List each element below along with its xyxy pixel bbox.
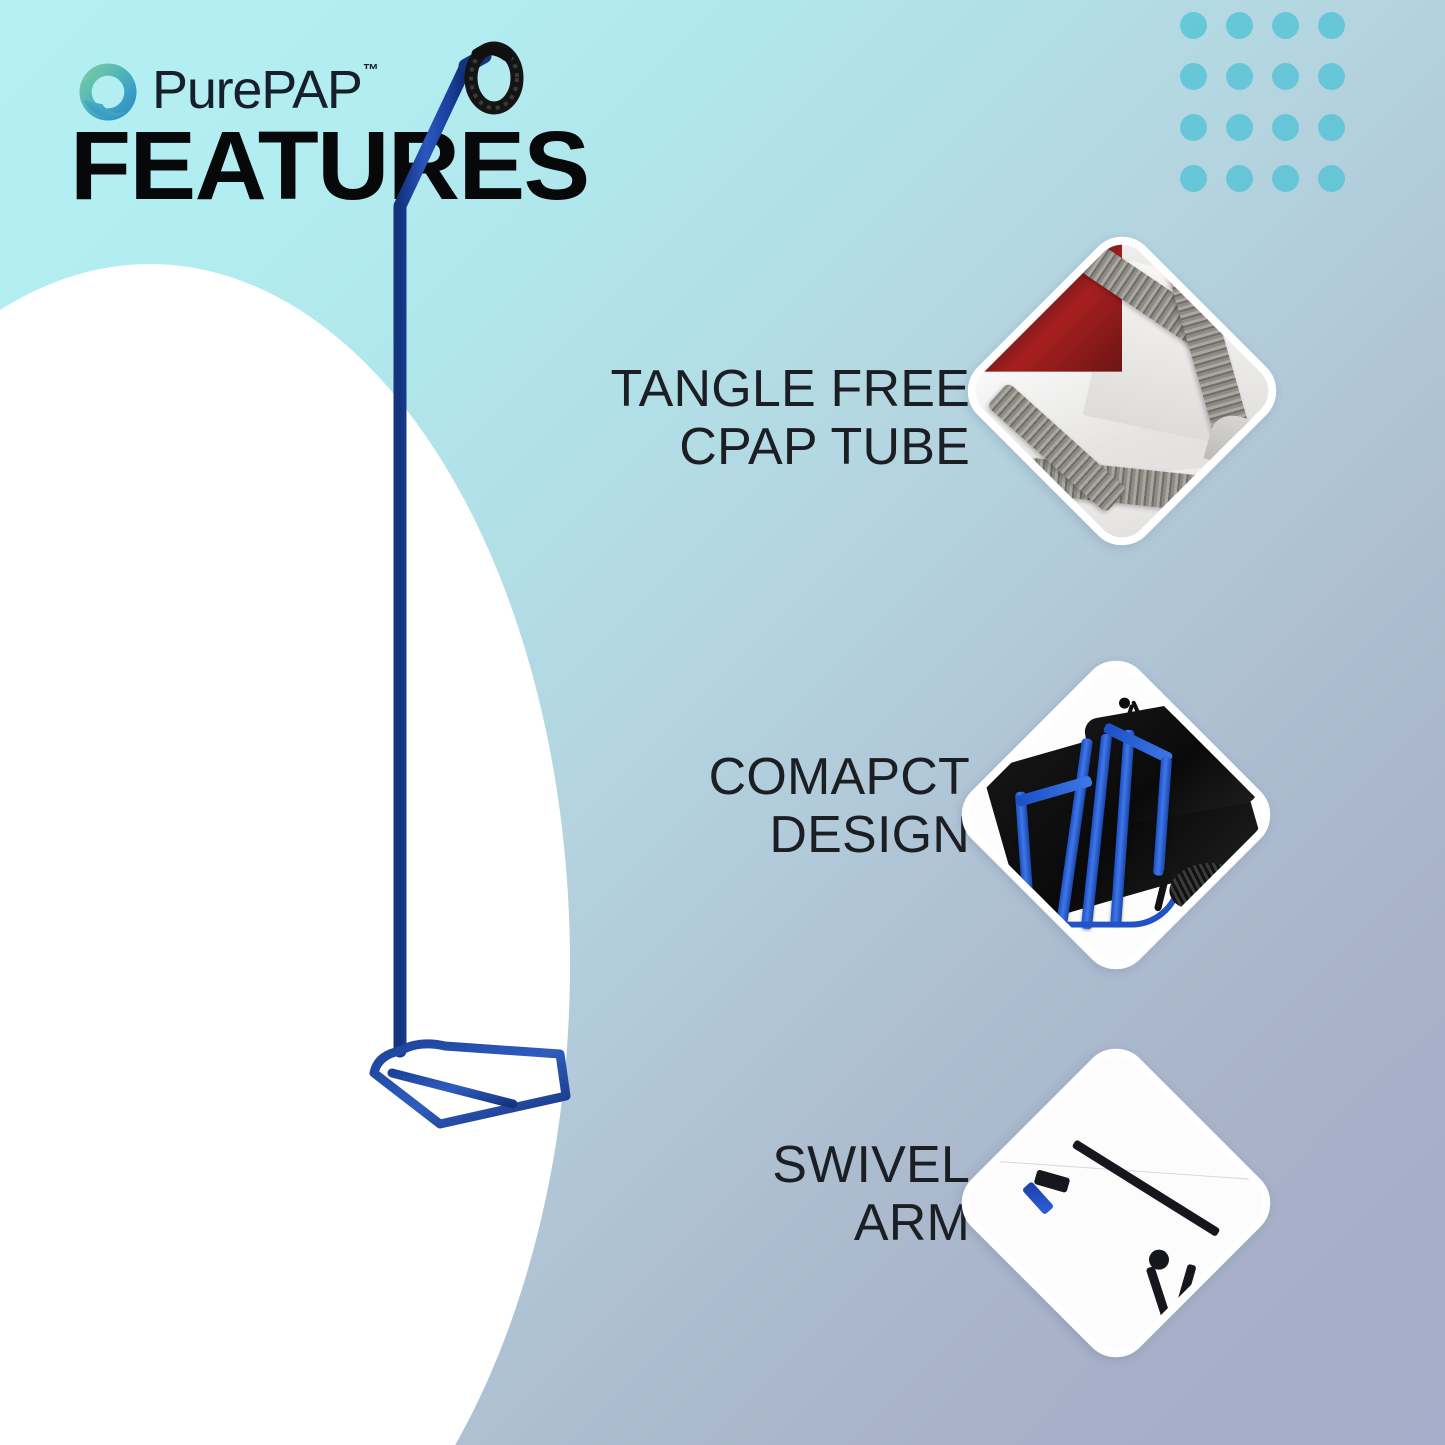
dot-grid-decoration <box>1180 12 1364 216</box>
grid-dot <box>1180 12 1207 39</box>
feature-label-1-line1: TANGLE FREE <box>610 360 970 418</box>
grid-dot <box>1180 114 1207 141</box>
grid-dot <box>1226 165 1253 192</box>
grid-dot <box>1226 12 1253 39</box>
feature-label-3-line2: ARM <box>772 1194 970 1252</box>
trademark-symbol: ™ <box>363 62 379 79</box>
feature-label-2-line1: COMAPCT <box>709 748 970 806</box>
feature-label-2: COMAPCT DESIGN <box>709 748 970 864</box>
feature-image-tile-2 <box>948 647 1285 984</box>
feature-label-1-line2: CPAP TUBE <box>610 418 970 476</box>
feature-label-3: SWIVEL ARM <box>772 1136 970 1252</box>
folded-stand-with-carry-bag-photo <box>948 647 1285 984</box>
page-title: FEATURES <box>70 116 589 216</box>
feature-image-tile-1 <box>954 223 1291 560</box>
grid-dot <box>1272 114 1299 141</box>
grid-dot <box>1180 63 1207 90</box>
grid-dot <box>1318 63 1345 90</box>
swivel-arm-with-hose-photo <box>948 1035 1285 1372</box>
grid-dot <box>1272 165 1299 192</box>
feature-row-1: TANGLE FREE CPAP TUBE <box>520 352 970 484</box>
feature-row-2: COMAPCT DESIGN <box>520 740 970 872</box>
feature-label-2-line2: DESIGN <box>709 806 970 864</box>
product-ellipse-backdrop <box>0 264 570 1445</box>
infographic-canvas: PurePAP™ FEATURES <box>0 0 1445 1445</box>
grid-dot <box>1180 165 1207 192</box>
grid-dot <box>1318 114 1345 141</box>
grid-dot <box>1318 12 1345 39</box>
grid-dot <box>1272 63 1299 90</box>
feature-label-1: TANGLE FREE CPAP TUBE <box>610 360 970 476</box>
grid-dot <box>1226 63 1253 90</box>
feature-row-3: SWIVEL ARM <box>520 1128 970 1260</box>
grid-dot <box>1226 114 1253 141</box>
grid-dot <box>1318 165 1345 192</box>
cpap-tube-on-bed-photo <box>954 223 1291 560</box>
grid-dot <box>1272 12 1299 39</box>
feature-image-tile-3 <box>948 1035 1285 1372</box>
feature-label-3-line1: SWIVEL <box>772 1136 970 1194</box>
